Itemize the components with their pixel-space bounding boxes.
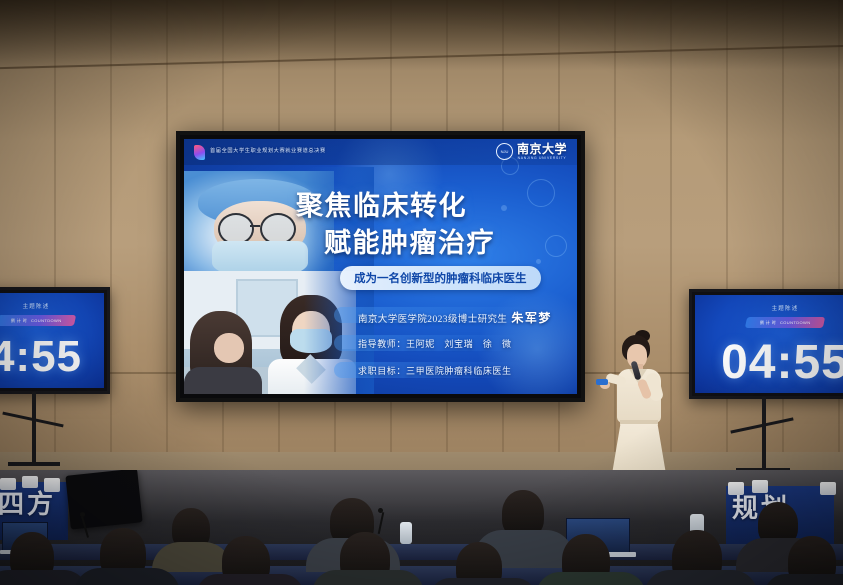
university-logo: NJU 南京大学 NANJING UNIVERSITY <box>496 143 567 160</box>
audience-shoulders <box>536 572 646 585</box>
monitor-stand-pole-right <box>762 397 766 472</box>
countdown-monitor-right[interactable]: 主题陈述 倒 计 时 COUNTDOWN 04:55 <box>689 289 843 399</box>
countdown-ribbon-left: 倒 计 时 COUNTDOWN <box>0 315 76 326</box>
audience-shoulders <box>74 568 180 585</box>
banner-left-cap-3 <box>44 478 60 492</box>
ribbon-text-right-en: COUNTDOWN <box>780 320 811 325</box>
desk-mic-head-2 <box>378 508 383 513</box>
countdown-label-left: 主题陈述 <box>0 302 104 310</box>
advisor-names: 王阿妮 刘宝瑞 徐 微 <box>406 339 512 349</box>
countdown-screen-left: 主题陈述 倒 计 时 COUNTDOWN 4:55 <box>0 293 104 388</box>
countdown-time-left: 4:55 <box>0 335 104 379</box>
presenter-name: 朱军梦 <box>511 311 552 325</box>
banner-right-cap-3 <box>820 482 836 495</box>
university-seal-icon: NJU <box>496 143 513 160</box>
audience-shoulders <box>196 574 304 585</box>
patient-body <box>184 367 262 394</box>
audience-shoulders <box>430 578 536 585</box>
ribbon-text-left-en: COUNTDOWN <box>31 318 62 323</box>
desk-mic-head-1 <box>80 512 85 517</box>
slide-title-line-1: 聚焦临床转化 <box>296 184 467 223</box>
audience-shoulders <box>312 570 424 585</box>
main-led-screen[interactable]: 首届全国大学生职业规划大赛就业赛道总决赛 NJU 南京大学 NANJING UN… <box>176 131 585 402</box>
competition-logo-icon <box>194 145 205 160</box>
countdown-screen-right: 主题陈述 倒 计 时 COUNTDOWN 04:55 <box>695 295 843 393</box>
university-name-english: NANJING UNIVERSITY <box>517 156 567 160</box>
monitor-stand-base-left <box>8 462 60 466</box>
countdown-time-right: 04:55 <box>695 339 843 387</box>
ceiling-shadow <box>0 0 843 70</box>
slide-subtitle-pill: 成为一名创新型的肿瘤科临床医生 <box>340 266 541 290</box>
presenter-program: 南京大学医学院2023级博士研究生 <box>358 315 507 325</box>
eyeglasses-bridge <box>250 225 260 227</box>
molecule-ring-3 <box>545 235 567 257</box>
career-goal-line: 求职目标：三甲医院肿瘤科临床医生 <box>358 364 512 377</box>
presentation-clicker <box>596 379 608 385</box>
molecule-dot-2 <box>536 259 541 264</box>
slide-surface: 首届全国大学生职业规划大赛就业赛道总决赛 NJU 南京大学 NANJING UN… <box>184 139 577 394</box>
water-bottle-center <box>400 522 412 544</box>
presenter-info-line: 南京大学医学院2023级博士研究生朱军梦 <box>358 309 552 326</box>
countdown-ribbon-right: 倒 计 时 COUNTDOWN <box>745 317 825 328</box>
countdown-monitor-left[interactable]: 主题陈述 倒 计 时 COUNTDOWN 4:55 <box>0 287 110 394</box>
audience-shoulders <box>644 570 758 585</box>
advisor-info-line: 指导教师：王阿妮 刘宝瑞 徐 微 <box>358 337 512 350</box>
ribbon-text-right-cn: 倒 计 时 <box>760 320 776 326</box>
seated-audience: 四方 规划 <box>0 470 843 585</box>
monitor-stand-pole-left <box>32 392 36 464</box>
banner-right-cap-1 <box>728 482 744 495</box>
advisor-label: 指导教师： <box>358 339 406 349</box>
audience-shoulders <box>764 574 843 585</box>
audience-shoulders <box>152 542 232 572</box>
conference-hall-photo: 首届全国大学生职业规划大赛就业赛道总决赛 NJU 南京大学 NANJING UN… <box>0 0 843 585</box>
molecule-ring-1 <box>527 179 555 207</box>
judge-monitor-back <box>65 470 142 530</box>
banner-right-cap-2 <box>752 480 768 493</box>
countdown-label-right: 主题陈述 <box>695 304 843 312</box>
career-goal-label: 求职目标： <box>358 366 406 376</box>
banner-left-cap-2 <box>22 476 38 488</box>
event-banner-text: 首届全国大学生职业规划大赛就业赛道总决赛 <box>210 147 326 154</box>
ribbon-text-left-cn: 倒 计 时 <box>11 318 27 324</box>
slide-header-bar: 首届全国大学生职业规划大赛就业赛道总决赛 NJU 南京大学 NANJING UN… <box>184 139 577 165</box>
patient-face <box>214 333 244 363</box>
molecule-dot-1 <box>501 205 507 211</box>
slide-title-line-2: 赋能肿瘤治疗 <box>324 221 495 260</box>
banner-left-cap-1 <box>0 478 16 490</box>
university-name: 南京大学 <box>517 143 567 155</box>
audience-shoulders <box>0 570 88 585</box>
career-goal-value: 三甲医院肿瘤科临床医生 <box>406 366 512 376</box>
